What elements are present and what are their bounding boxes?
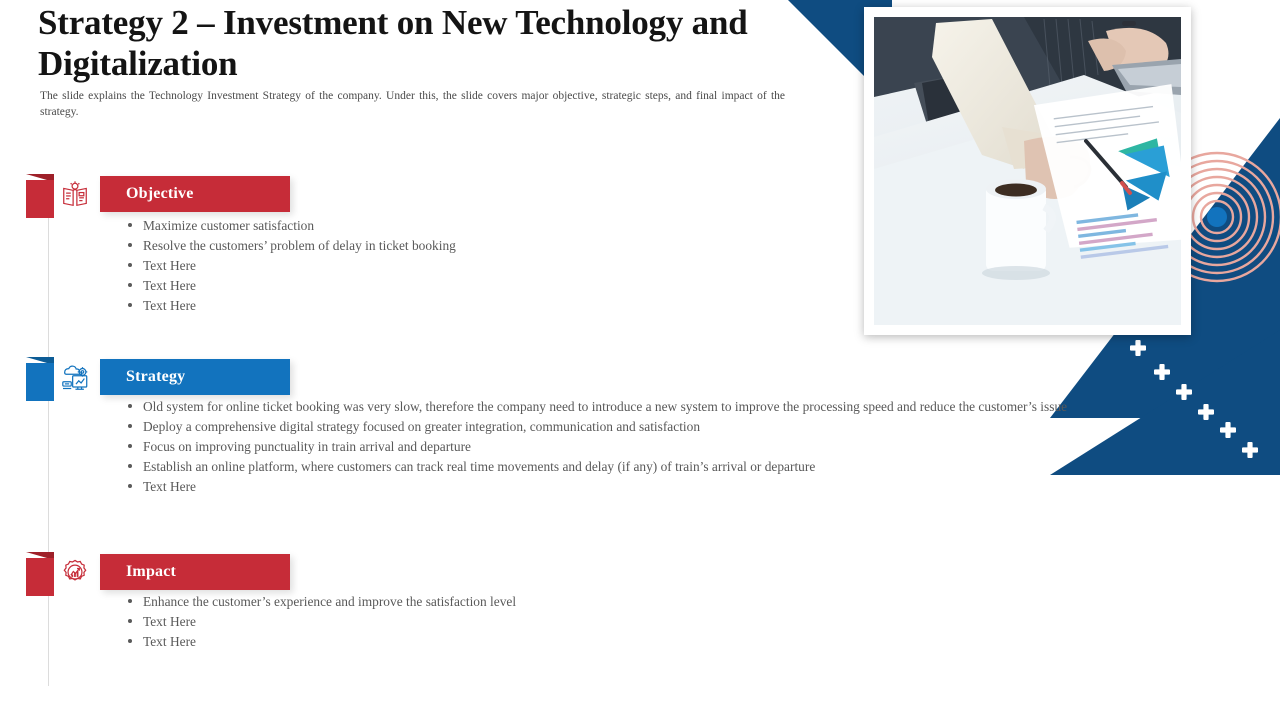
list-item: Text Here: [124, 632, 544, 651]
banner-impact: Impact: [100, 554, 290, 590]
list-item: Enhance the customer’s experience and im…: [124, 592, 544, 611]
ribbon-tab-objective: [26, 174, 54, 218]
section-label-objective: Objective: [100, 185, 194, 203]
photo-frame: [864, 7, 1191, 335]
list-item: Old system for online ticket booking was…: [124, 397, 1084, 416]
ribbon-tab-strategy: [26, 357, 54, 401]
list-item: Establish an online platform, where cust…: [124, 457, 1084, 476]
cloud-gear-monitor-icon: [58, 361, 92, 395]
list-item: Maximize customer satisfaction: [124, 216, 684, 235]
slide-root: Strategy 2 – Investment on New Technolog…: [0, 0, 1280, 720]
slide-subtitle: The slide explains the Technology Invest…: [40, 88, 785, 121]
list-item: Text Here: [124, 296, 684, 315]
list-item: Resolve the customers’ problem of delay …: [124, 236, 684, 255]
book-lightbulb-icon: [58, 178, 92, 212]
business-meeting-photo: [874, 17, 1181, 325]
gear-growth-chart-icon: [58, 556, 92, 590]
bullet-list-impact: Enhance the customer’s experience and im…: [124, 592, 544, 652]
banner-strategy: Strategy: [100, 359, 290, 395]
list-item: Focus on improving punctuality in train …: [124, 437, 1084, 456]
bullet-list-objective: Maximize customer satisfaction Resolve t…: [124, 216, 684, 316]
plus-marks-decor: [1120, 330, 1280, 490]
list-item: Deploy a comprehensive digital strategy …: [124, 417, 1084, 436]
ribbon-tab-impact: [26, 552, 54, 596]
timeline-connector: [48, 200, 49, 686]
list-item: Text Here: [124, 477, 1084, 496]
list-item: Text Here: [124, 276, 684, 295]
bullet-list-strategy: Old system for online ticket booking was…: [124, 397, 1084, 497]
slide-title: Strategy 2 – Investment on New Technolog…: [38, 2, 768, 85]
section-label-strategy: Strategy: [100, 368, 185, 386]
list-item: Text Here: [124, 256, 684, 275]
banner-objective: Objective: [100, 176, 290, 212]
section-label-impact: Impact: [100, 563, 176, 581]
navy-wedge-lower: [1050, 330, 1280, 475]
list-item: Text Here: [124, 612, 544, 631]
